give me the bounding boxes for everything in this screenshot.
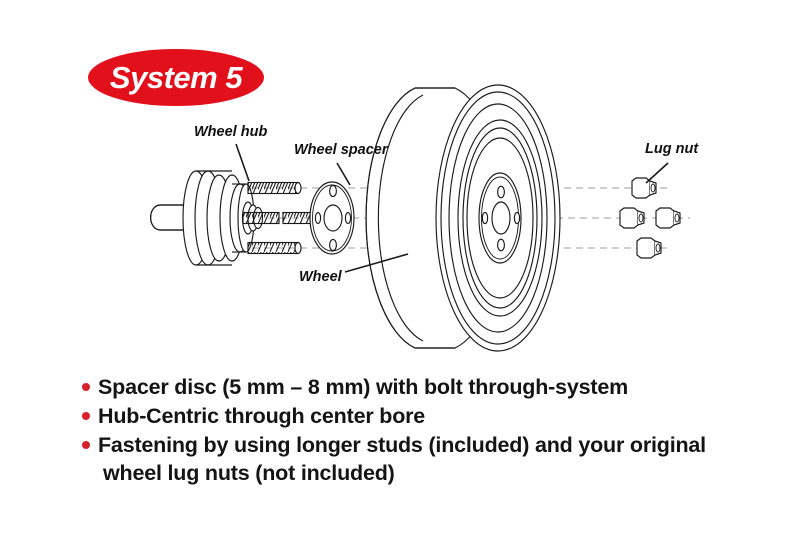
lug-nut-group [620,178,680,258]
lug-nut-2 [620,208,644,228]
wheel-hole-bottom [498,239,505,251]
label-wheel: Wheel [299,269,342,285]
label-lug-nut: Lug nut [645,141,698,157]
bullet-text: Hub-Centric through center bore [98,402,425,430]
feature-list: Spacer disc (5 mm – 8 mm) with bolt thro… [82,373,782,488]
list-item: Hub-Centric through center bore [82,402,782,430]
wheel-hole-top [498,186,505,198]
spacer-hole-left [315,213,320,224]
lug-nut-3 [656,208,680,228]
leader-lug-nut [646,163,668,183]
leader-wheel-spacer [337,163,350,185]
wheel-part [366,85,560,351]
diagram-page: System 5 Wheel hub Wheel spacer Wheel Lu… [0,0,800,533]
bullet-text: Fastening by using longer studs (include… [98,431,706,487]
spacer-hole-bottom [330,239,337,250]
stud-bottom [248,243,301,254]
leader-wheel-hub [236,144,249,181]
lug-nut-4 [637,238,661,258]
wheel-hole-left [482,212,487,223]
label-wheel-hub: Wheel hub [194,124,267,140]
badge-label: System 5 [88,49,264,106]
stud-top [248,183,301,194]
bullet-line-1: Fastening by using longer studs (include… [98,433,706,457]
bullet-line-1: Spacer disc (5 mm – 8 mm) with bolt thro… [98,375,628,399]
lug-nut-1 [632,178,656,198]
bullet-text: Spacer disc (5 mm – 8 mm) with bolt thro… [98,373,628,401]
list-item: Fastening by using longer studs (include… [82,431,782,487]
wheel-center-bore [492,202,510,234]
bullet-dot-icon [82,441,90,449]
list-item: Spacer disc (5 mm – 8 mm) with bolt thro… [82,373,782,401]
system-badge: System 5 [88,49,264,106]
bullet-dot-icon [82,412,90,420]
label-wheel-spacer: Wheel spacer [294,142,388,158]
wheel-hub-part [151,171,328,265]
spacer-center-bore [324,205,342,231]
bullet-line-1: Hub-Centric through center bore [98,404,425,428]
bullet-line-2: wheel lug nuts (not included) [103,459,706,487]
spacer-hole-right [345,213,350,224]
wheel-spacer-part [310,182,354,254]
spacer-hole-top [330,185,337,196]
bullet-dot-icon [82,383,90,391]
wheel-hole-right [514,212,519,223]
